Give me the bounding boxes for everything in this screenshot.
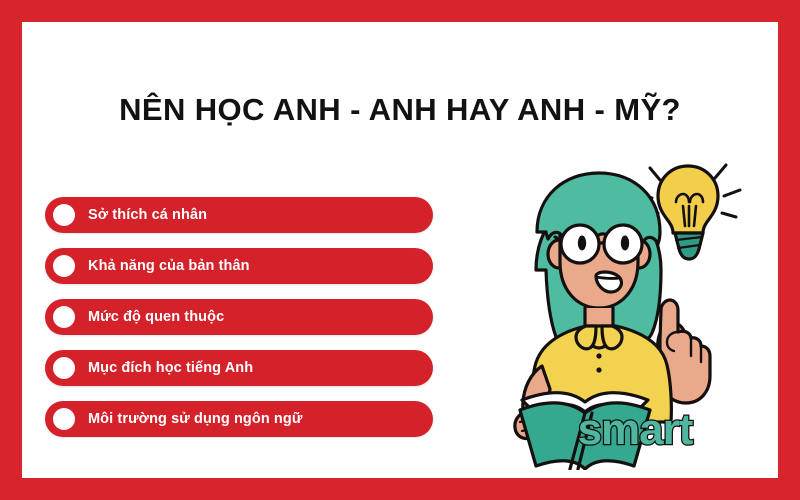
- checklist: Sở thích cá nhân Khả năng của bản thân M…: [45, 197, 465, 437]
- hair-fringe: [537, 173, 660, 244]
- slide-frame: NÊN HỌC ANH - ANH HAY ANH - MỸ? Sở thích…: [0, 0, 800, 500]
- list-item-label: Mục đích học tiếng Anh: [88, 360, 253, 376]
- list-item[interactable]: Môi trường sử dụng ngôn ngữ: [45, 401, 433, 437]
- list-item[interactable]: Sở thích cá nhân: [45, 197, 433, 233]
- bullet-icon: [53, 357, 75, 379]
- list-item-label: Khả năng của bản thân: [88, 258, 250, 274]
- bullet-icon: [53, 255, 75, 277]
- list-item[interactable]: Khả năng của bản thân: [45, 248, 433, 284]
- list-item-label: Mức độ quen thuộc: [88, 309, 224, 325]
- list-item[interactable]: Mục đích học tiếng Anh: [45, 350, 433, 386]
- page-title: NÊN HỌC ANH - ANH HAY ANH - MỸ?: [22, 94, 778, 125]
- bullet-icon: [53, 408, 75, 430]
- bullet-icon: [53, 204, 75, 226]
- slide-canvas: NÊN HỌC ANH - ANH HAY ANH - MỸ? Sở thích…: [22, 22, 778, 478]
- smart-caption: smart: [500, 408, 770, 452]
- bullet-icon: [53, 306, 75, 328]
- list-item-label: Môi trường sử dụng ngôn ngữ: [88, 411, 302, 427]
- list-item-label: Sở thích cá nhân: [88, 207, 207, 223]
- list-item[interactable]: Mức độ quen thuộc: [45, 299, 433, 335]
